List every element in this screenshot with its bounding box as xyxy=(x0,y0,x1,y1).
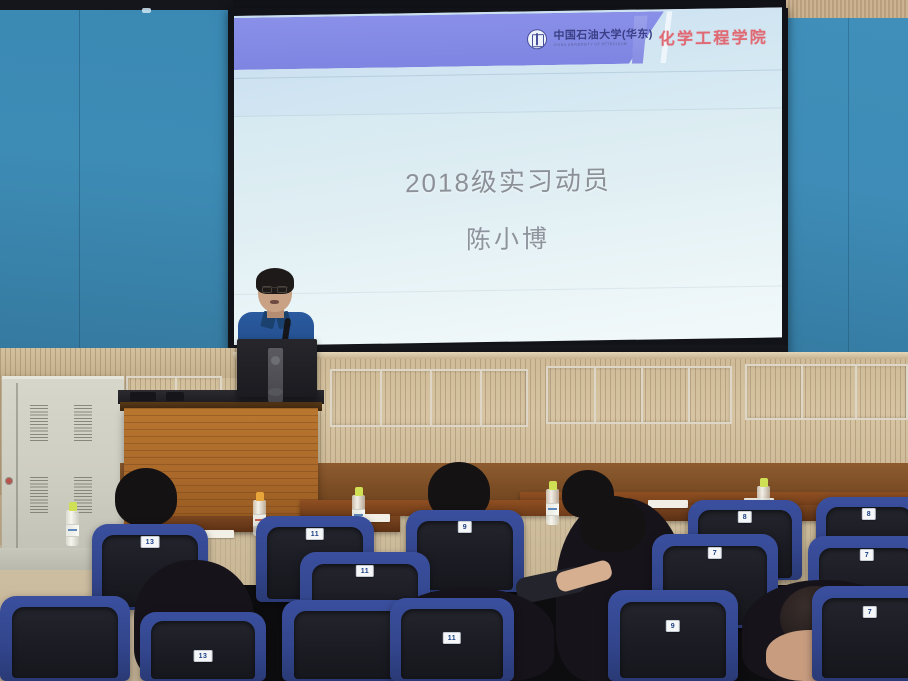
seat-number-tag: 8 xyxy=(862,508,876,520)
speaker-glasses-bridge xyxy=(262,287,288,293)
slide-title: 2018级实习动员 xyxy=(234,157,782,203)
university-seal-icon xyxy=(527,29,547,49)
wall-vent-panel xyxy=(745,364,908,420)
slide-hairline-3 xyxy=(234,285,782,295)
wood-wall-top-lip xyxy=(233,352,908,359)
seat-number-tag: 7 xyxy=(863,606,877,618)
seat-number-tag: 13 xyxy=(141,536,160,548)
lecture-chair: 9 xyxy=(608,590,738,681)
ceiling-strip-left xyxy=(0,0,233,10)
seat-number-tag: 11 xyxy=(443,632,461,644)
university-name-block: 中国石油大学(华东) CHINA UNIVERSITY OF PETROLEUM xyxy=(553,30,652,47)
wall-vent-panel xyxy=(546,366,732,424)
seat-number-tag: 11 xyxy=(356,565,374,577)
lecture-hall-photo: 中国石油大学(华东) CHINA UNIVERSITY OF PETROLEUM… xyxy=(0,0,908,681)
audience-head xyxy=(115,468,177,526)
water-bottle xyxy=(66,502,79,546)
desk-paper xyxy=(648,500,688,508)
projection-screen: 中国石油大学(华东) CHINA UNIVERSITY OF PETROLEUM… xyxy=(234,7,782,346)
seat-number-tag: 8 xyxy=(738,511,752,523)
seat-number-tag: 13 xyxy=(194,650,213,662)
department-name-cn: 化学工程学院 xyxy=(659,24,768,50)
water-bottle xyxy=(546,481,559,525)
wall-vent-panel xyxy=(330,369,528,427)
wall-light-speck xyxy=(142,8,151,13)
monitor-brand-mark xyxy=(271,356,280,365)
university-logo-lockup: 中国石油大学(华东) CHINA UNIVERSITY OF PETROLEUM… xyxy=(527,24,768,52)
seat-number-tag: 11 xyxy=(306,528,324,540)
seat-number-tag: 9 xyxy=(666,620,680,632)
electrical-cabinet xyxy=(2,376,124,548)
speaker-mouth xyxy=(270,300,279,304)
wall-panel-right xyxy=(786,18,908,358)
lecture-chair: 7 xyxy=(812,586,908,681)
wall-panel-left xyxy=(0,0,233,356)
monitor-foot xyxy=(268,388,283,396)
lecture-chair: 11 xyxy=(390,598,514,681)
wood-slat-wall-left xyxy=(0,348,240,378)
podium-equipment xyxy=(166,392,184,401)
seat-number-tag: 7 xyxy=(708,547,722,559)
seat-number-tag: 9 xyxy=(458,521,472,533)
podium-equipment xyxy=(130,392,156,401)
slide-presenter-name: 陈小博 xyxy=(234,215,782,260)
lecture-chair: 13 xyxy=(140,612,266,681)
lecture-chair xyxy=(0,596,130,681)
seat-number-tag: 7 xyxy=(860,549,874,561)
university-name-en: CHINA UNIVERSITY OF PETROLEUM xyxy=(553,41,652,47)
cabinet-lock-icon xyxy=(5,477,13,485)
audience-head xyxy=(580,496,646,552)
